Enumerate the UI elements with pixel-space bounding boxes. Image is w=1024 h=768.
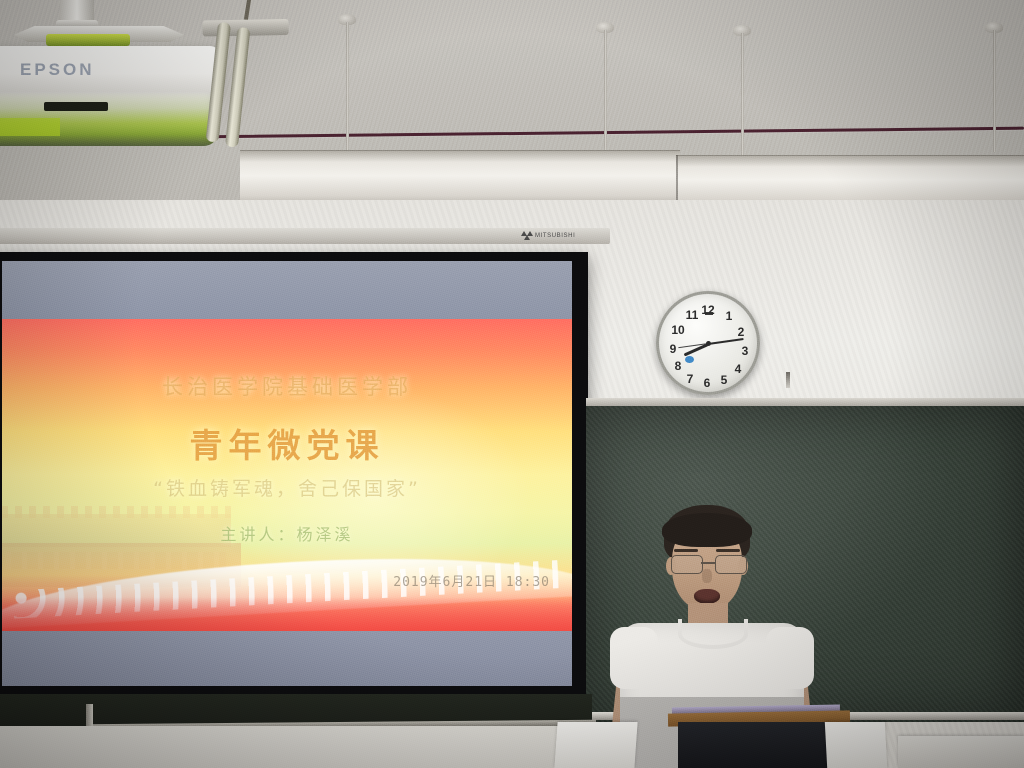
projector-lens [44,102,108,111]
wall-hook [786,372,790,388]
mitsubishi-wordmark: MITSUBISHI [535,233,575,239]
slide-slogan: “铁血铸军魂，舍己保国家” [2,474,572,501]
hanger-rod [741,33,744,160]
clock-blue-dot [685,356,694,363]
clock-numeral: 3 [737,343,753,359]
clock-numeral: 12 [700,302,716,318]
mitsubishi-diamond-icon [522,231,532,240]
presentation-slide: 长治医学院基础医学部 青年微党课 “铁血铸军魂，舍己保国家” 主讲人：杨泽溪 2… [2,319,572,631]
hanger-rod [604,30,607,156]
slide-letterbox-bottom [2,631,572,686]
clock-numeral: 4 [730,361,746,377]
hair-fringe [662,513,752,547]
sleeve-right [766,627,814,689]
nose [702,569,712,583]
slide-presenter: 主讲人：杨泽溪 [2,521,572,545]
clock-numeral: 8 [670,358,686,374]
hanger-rod [346,22,349,150]
hanger-rod [993,30,996,152]
light-stem [244,0,254,20]
clock-numeral: 1 [721,308,737,324]
classroom-photo-scene: EPSON MITSUBISHI [0,0,1024,768]
eyebrow-right [716,549,740,552]
sleeve-left [610,627,658,689]
mitsubishi-logo: MITSUBISHI [522,231,575,240]
clock-numeral: 10 [670,322,686,338]
projection-screen-surface: 长治医学院基础医学部 青年微党课 “铁血铸军魂，舍己保国家” 主讲人：杨泽溪 2… [2,261,572,686]
projector-brand-label: EPSON [20,60,95,80]
clock-center-pin [706,341,711,346]
mouth [694,589,720,604]
white-panel-right [825,722,887,768]
clock-numeral: 11 [684,307,700,323]
projector-vent [0,118,60,136]
projection-screen-housing [0,228,610,244]
tshirt-collar [678,619,748,649]
clock-numeral: 5 [716,372,732,388]
eyebrow-left [674,549,698,552]
wall-clock: 12 1 2 3 4 5 6 7 8 9 10 11 [656,291,760,395]
glasses-bridge [701,562,715,564]
glasses-lens-left [671,555,703,574]
slide-datestamp: 2019年6月21日 18:30 [393,571,550,590]
white-panel-far-right [898,736,1024,768]
projector-mount-knob [46,34,130,46]
slide-title: 青年微党课 [2,419,572,467]
clock-numeral: 9 [665,341,681,357]
podium-body [678,722,830,768]
glasses-lens-right [715,555,747,574]
slide-organization: 长治医学院基础医学部 [2,371,572,401]
slide-letterbox-top [2,261,572,319]
clock-numeral: 6 [699,375,715,391]
lower-left-wall [0,726,600,768]
projection-screen: 长治医学院基础医学部 青年微党课 “铁血铸军魂，舍己保国家” 主讲人：杨泽溪 2… [0,252,588,697]
fluorescent-tube [225,27,250,148]
white-panel-left [554,722,637,768]
